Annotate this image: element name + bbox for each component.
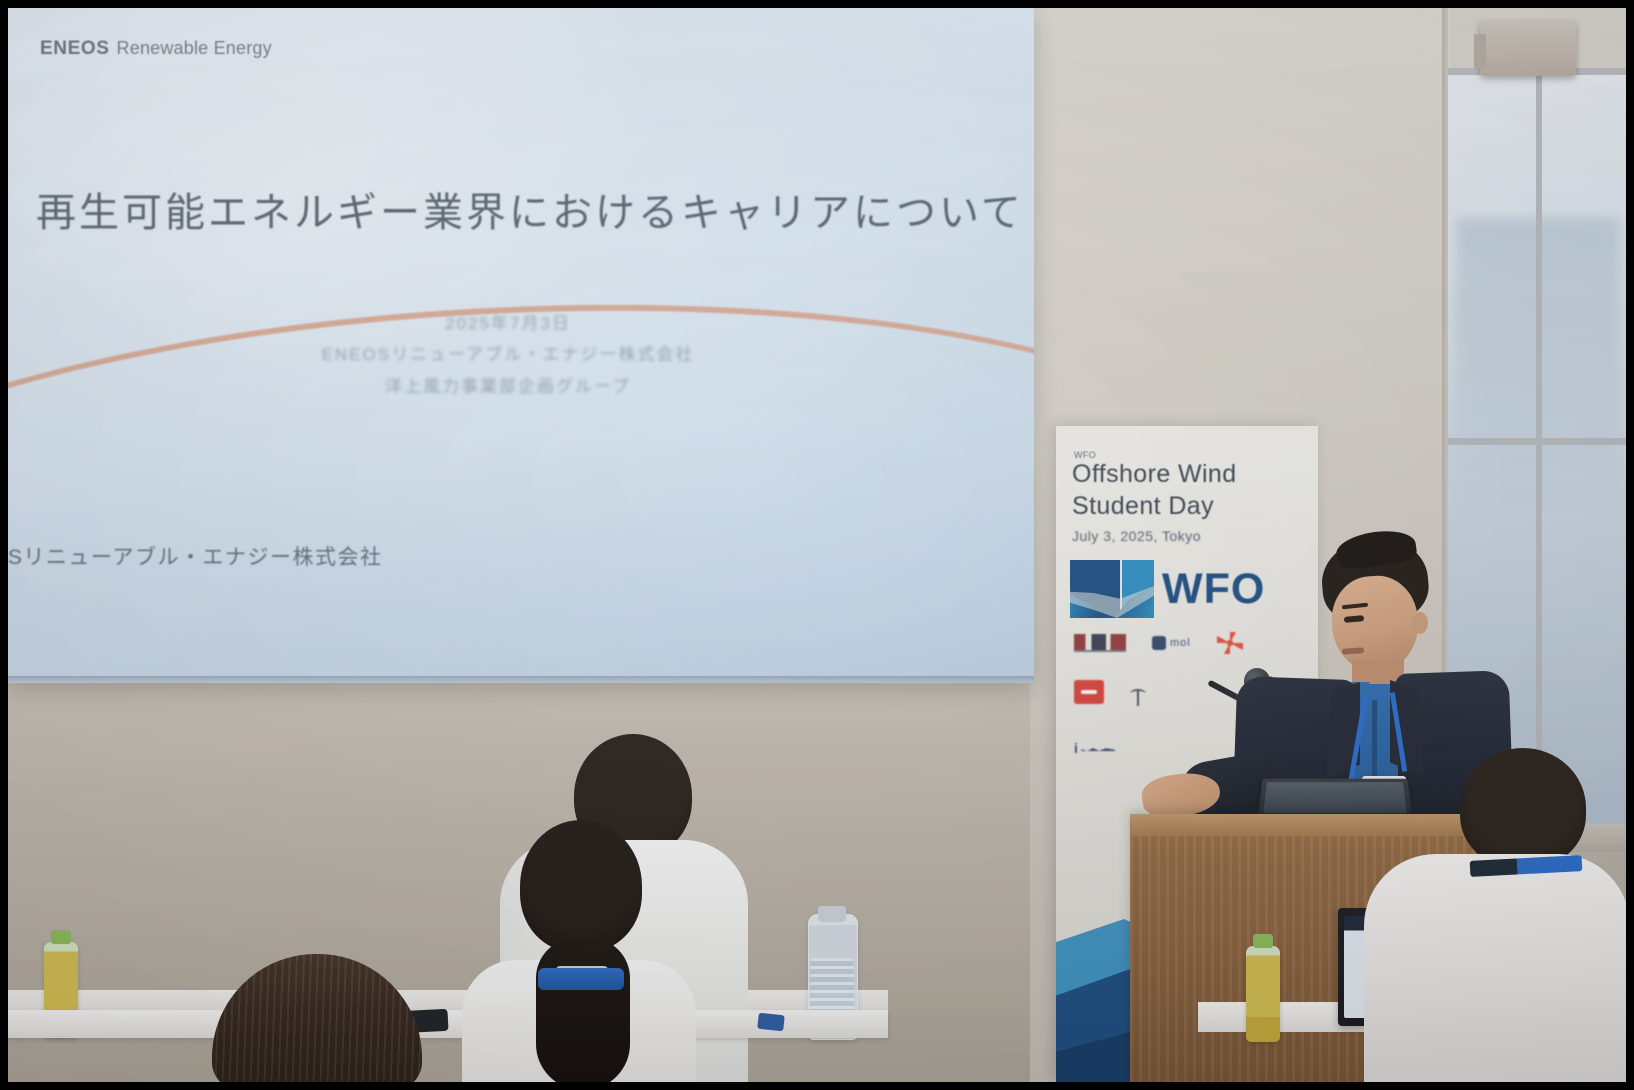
slide-title: 再生可能エネルギー業界におけるキャリアについて (36, 180, 976, 238)
eneos-logo-sub: Renewable Energy (117, 38, 272, 59)
banner-date-location: July 3, 2025, Tokyo (1072, 528, 1201, 544)
sponsor-logo-icon (1074, 634, 1126, 652)
projector-mount (1474, 34, 1486, 68)
tea-bottle (1246, 946, 1280, 1042)
banner-heading-line2: Student Day (1072, 492, 1214, 521)
tea-bottle-cap (51, 930, 71, 944)
slide-footer-company: OSリニューアブル・エナジー株式会社 (8, 541, 383, 571)
sponsor-logo-icon (1130, 688, 1153, 706)
audience-ponytail (536, 938, 630, 1082)
screenshot-frame: ENEOS Renewable Energy 再生可能エネルギー業界におけるキャ… (0, 0, 1634, 1090)
item-on-table (757, 1013, 785, 1032)
screen-bottom-edge (8, 676, 1034, 683)
banner-eyebrow: WFO (1074, 450, 1096, 460)
sponsor-logo-icon (1074, 680, 1104, 713)
projection-screen: ENEOS Renewable Energy 再生可能エネルギー業界におけるキャ… (8, 8, 1034, 683)
podium-top-surface (1130, 814, 1482, 836)
ceiling-projector-icon (1480, 20, 1576, 76)
wfo-wave-mark-icon (1070, 560, 1154, 618)
eneos-logo: ENEOS Renewable Energy (40, 38, 272, 60)
sponsor-logo-icon: mol (1152, 636, 1191, 650)
banner-heading-line1: Offshore Wind (1072, 460, 1237, 489)
window-mullion (1536, 68, 1542, 828)
conference-photo: ENEOS Renewable Energy 再生可能エネルギー業界におけるキャ… (8, 8, 1626, 1082)
eneos-logo-mark: ENEOS (40, 38, 110, 60)
tea-bottle-cap (1253, 934, 1273, 948)
audience-head (520, 820, 642, 952)
hair-ribbon (538, 968, 624, 990)
audience-head (1460, 748, 1586, 868)
sponsor-logo-icon: i (1074, 739, 1115, 757)
audience-body (1364, 854, 1626, 1082)
audience-table-back (8, 990, 888, 1012)
water-bottle-cap (818, 906, 846, 922)
